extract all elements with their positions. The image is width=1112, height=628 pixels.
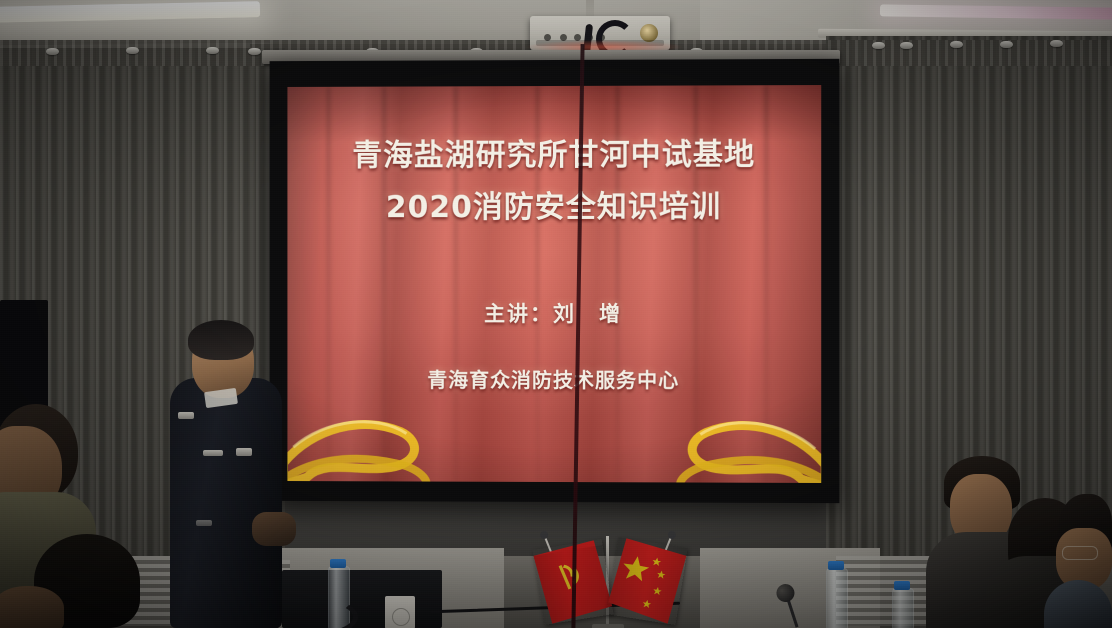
slide-title-line-1: 青海盐湖研究所甘河中试基地 <box>352 129 755 174</box>
flag-stand-base <box>592 624 624 628</box>
slide-text-block: 青海盐湖研究所甘河中试基地 2020消防安全知识培训 主讲：刘 增 青海育众消防… <box>287 85 821 483</box>
attendee-right-3-glasses <box>1062 546 1098 560</box>
officer-chest-badge-right <box>236 448 252 456</box>
china-national-flag <box>606 537 687 625</box>
officer-hair <box>188 320 254 360</box>
officer-sleeve-emblem <box>196 520 212 526</box>
paper-cup <box>385 596 415 628</box>
attendee-left-3-head <box>0 586 64 628</box>
officer-shoulder-insignia <box>178 412 194 419</box>
water-bottle-right-2 <box>892 588 914 628</box>
projection-screen: 青海盐湖研究所甘河中试基地 2020消防安全知识培训 主讲：刘 增 青海育众消防… <box>270 59 840 503</box>
slide-title-line-2: 2020消防安全知识培训 <box>386 182 721 226</box>
officer-hands <box>252 512 296 546</box>
slide-organization-label: 青海育众消防技术服务中心 <box>427 364 679 393</box>
slide-speaker-label: 主讲：刘 增 <box>484 298 622 328</box>
officer-chest-badge-left <box>203 450 223 456</box>
water-bottle-right-1 <box>826 568 848 628</box>
projected-slide: 青海盐湖研究所甘河中试基地 2020消防安全知识培训 主讲：刘 增 青海育众消防… <box>287 85 821 483</box>
training-room-photo: 青海盐湖研究所甘河中试基地 2020消防安全知识培训 主讲：刘 增 青海育众消防… <box>0 0 1112 628</box>
